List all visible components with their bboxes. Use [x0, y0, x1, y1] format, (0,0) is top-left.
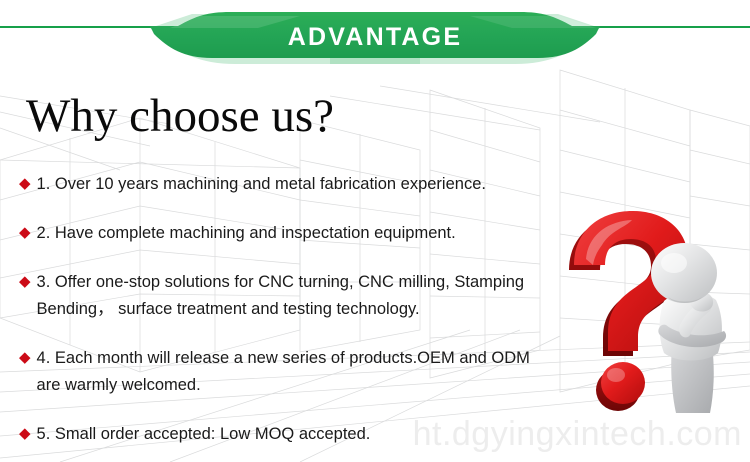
list-item: ◆ 3. Offer one-stop solutions for CNC tu…: [19, 269, 599, 323]
watermark-text: ht.dgyingxintech.com: [0, 412, 750, 456]
list-item-text: 4. Each month will release a new series …: [37, 345, 599, 399]
diamond-bullet-icon: ◆: [19, 269, 31, 293]
page-title: Why choose us?: [26, 88, 334, 144]
list-item-text: 3. Offer one-stop solutions for CNC turn…: [37, 269, 599, 323]
list-item: ◆ 1. Over 10 years machining and metal f…: [19, 171, 599, 198]
list-item: ◆ 4. Each month will release a new serie…: [19, 345, 599, 399]
diamond-bullet-icon: ◆: [19, 171, 31, 195]
list-item-text: 2. Have complete machining and inspectat…: [37, 220, 599, 247]
diamond-bullet-icon: ◆: [19, 220, 31, 244]
list-item: ◆ 2. Have complete machining and inspect…: [19, 220, 599, 247]
diamond-bullet-icon: ◆: [19, 345, 31, 369]
advantage-page: ADVANTAGE Why choose us? ◆ 1. Over 10 ye…: [0, 0, 750, 462]
banner-title: ADVANTAGE: [0, 23, 750, 51]
list-item-text: 1. Over 10 years machining and metal fab…: [37, 171, 599, 198]
